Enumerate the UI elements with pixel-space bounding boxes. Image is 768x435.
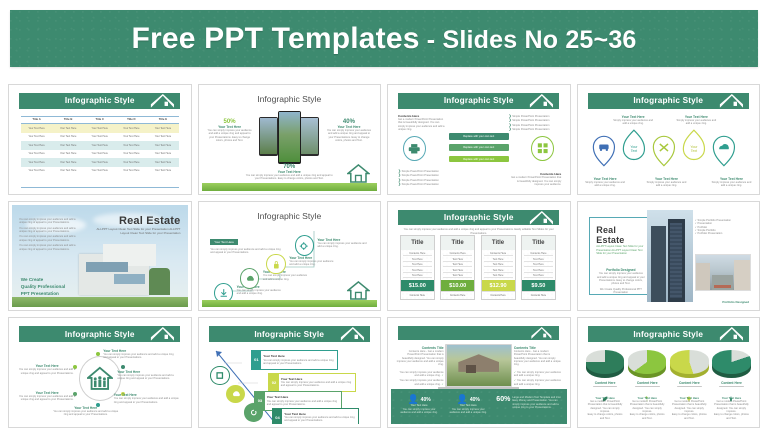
- table-cell: Your Text Here: [21, 127, 53, 130]
- item-caption-4: Your Text Here You can simply impress yo…: [51, 406, 121, 417]
- pricing-column[interactable]: Title Contents Here Text Here Text Here …: [481, 235, 516, 300]
- table-cell: Your Text Here: [116, 135, 148, 138]
- item-caption-2: Your Text Here You can simply impress yo…: [117, 370, 180, 381]
- slide-8-subtitle: ALLPPT Layout Clean Text Slide for your …: [596, 245, 645, 255]
- pricing-sub: Contents Here: [443, 252, 472, 256]
- item-body: You can simply impress your audience and…: [117, 374, 180, 381]
- table-cell: Your Text Here: [84, 127, 116, 130]
- table-header-row: Title A Title B Title C Title D Title E: [21, 116, 179, 124]
- pie-caption-3: Content Here Your Text Here Get a modern…: [670, 381, 709, 420]
- right-body: Contents Here - Get a modern PowerPoint …: [514, 350, 561, 367]
- pricing-button[interactable]: Contents Here: [522, 291, 555, 299]
- table-cell: Your Text Here: [147, 161, 179, 164]
- house-roof-icon: [716, 94, 746, 108]
- table-header-cell: Title A: [21, 118, 53, 121]
- pin-shape-cloud: [709, 134, 739, 167]
- slide-1-table: Title A Title B Title C Title D Title E …: [21, 116, 179, 184]
- svg-text:Your: Your: [630, 145, 638, 149]
- left-body: Contents Here - Get a modern PowerPoint …: [396, 350, 443, 367]
- stat-value: 60%: [496, 396, 510, 409]
- house-outline-icon: [347, 281, 370, 299]
- stat-value: 40%: [421, 397, 431, 403]
- slide-3-right-bullets: ❯ Simple PowerPoint Presentation ❯ Simpl…: [509, 114, 562, 132]
- pricing-feature: Text Here: [524, 274, 553, 278]
- claim-line: PPT Presentation: [21, 290, 65, 297]
- pin-shape-text-1: YourText: [619, 129, 649, 162]
- item-caption-5: Your Text Here You can simply impress yo…: [17, 391, 77, 402]
- pricing-value: $15.00: [401, 280, 434, 291]
- photo-caption: Portfolio Designed: [722, 300, 749, 304]
- cube-icon: [210, 366, 229, 384]
- stat-block-2: 👤 40% Your Text Here You can simply impr…: [447, 395, 489, 414]
- slide-5-bullets: You can simply impress your audience and…: [19, 218, 82, 251]
- table-cell: Your Text Here: [116, 144, 148, 147]
- pie-surface: [670, 350, 709, 374]
- bullet-item: You can simply impress your audience and…: [19, 244, 82, 251]
- bulb-icon: [686, 389, 692, 395]
- claim-line: We Create: [21, 276, 65, 283]
- table-row: Your Text Here Your Text Here Your Text …: [21, 167, 179, 175]
- item-body: You can simply impress your audience and…: [51, 410, 121, 417]
- house-roof-icon: [526, 211, 556, 225]
- table-cell: Your Text Here: [84, 144, 116, 147]
- pie-body: Get a modern PowerPoint Presentation tha…: [586, 400, 625, 413]
- table-header-cell: Title D: [116, 118, 148, 121]
- smartphone-mockup-group: [259, 111, 319, 164]
- pricing-feature: Text Here: [443, 269, 472, 273]
- step-body: You can simply impress your audience and…: [281, 381, 353, 388]
- slide-9-title: Infographic Style: [65, 330, 135, 339]
- slide-4-header: Infographic Style: [588, 93, 749, 108]
- check-icon: ❯: [398, 182, 401, 186]
- slide-3-title: Infographic Style: [444, 96, 514, 105]
- slide-thumbnail-8[interactable]: Real Estate ALLPPT Layout Clean Text Sli…: [577, 201, 761, 312]
- pie-note: Easy to change colors, photos and Text.: [586, 413, 625, 420]
- pricing-value: $10.00: [441, 280, 474, 291]
- street-photo: [695, 254, 751, 291]
- step-number: 02: [269, 374, 279, 392]
- pie-chart-3: [670, 350, 709, 381]
- step-caption-3: Your Text Here You can simply impress yo…: [289, 256, 338, 267]
- slide-5-title: Real Estate: [96, 215, 180, 227]
- table-row: Your Text Here Your Text Here Your Text …: [21, 124, 179, 132]
- slide-2-stat-right: 40% Your Text Here You can simply impres…: [326, 119, 372, 142]
- table-cell: Your Text Here: [147, 127, 179, 130]
- pie-body: Get a modern PowerPoint Presentation tha…: [628, 400, 667, 413]
- svg-text:Text: Text: [631, 149, 637, 153]
- gear-icon: [295, 235, 314, 256]
- pricing-features: Contents Here Text Here Text Here Text H…: [401, 250, 434, 280]
- process-bar: Replace with your own text: [449, 133, 509, 140]
- table-row-spacer: [21, 175, 179, 183]
- pin-body: Simply impress your audience and add a u…: [675, 119, 717, 126]
- check-icon: ✓: [441, 383, 443, 386]
- portfolio-body: You can simply impress your audience and…: [596, 272, 645, 285]
- slide-2-stat-bottom: 70% Your Text Here You can simply impres…: [244, 164, 335, 181]
- check-item: You can simply impress your audience and…: [396, 379, 443, 386]
- slide-1-title: Infographic Style: [65, 96, 135, 105]
- step-number: 04: [273, 409, 283, 424]
- table-bottom-rule: [21, 187, 179, 188]
- pie-note: Easy to change colors, photos and Text.: [712, 413, 751, 420]
- table-row: Your Text Here Your Text Here Your Text …: [21, 150, 179, 158]
- pricing-feature: Text Here: [484, 269, 513, 273]
- house-roof-icon: [526, 94, 556, 108]
- smartphone-icon: [278, 111, 301, 164]
- pricing-feature: Text Here: [443, 274, 472, 278]
- slide-3-left-bullets: ❯ Simple PowerPoint Presentation ❯ Simpl…: [398, 169, 451, 187]
- pricing-feature: Text Here: [403, 258, 432, 262]
- table-header-cell: Title E: [147, 118, 179, 121]
- skyscraper-photo: [647, 210, 693, 302]
- banner-title-main: Free PPT Templates: [131, 22, 419, 55]
- pricing-feature: Text Here: [524, 263, 553, 267]
- pricing-feature: Text Here: [484, 258, 513, 262]
- pricing-column[interactable]: Title Contents Here Text Here Text Here …: [440, 235, 475, 300]
- check-icon: ❯: [398, 173, 401, 177]
- check-icon: ❯: [398, 169, 401, 173]
- pie-caption-2: Content Here Your Text Here Get a modern…: [628, 381, 667, 420]
- pin-caption-bottom-3: Your Text Here Simply impress your audie…: [710, 177, 752, 188]
- slide-thumbnail-12[interactable]: Infographic Style Content Here Your Text…: [577, 317, 761, 428]
- bullet-item: You can simply impress your audience and…: [19, 227, 82, 234]
- check-icon: ✓: [441, 374, 443, 377]
- pricing-feature: Text Here: [403, 274, 432, 278]
- pie-caption-4: Content Here Your Text Here Get a modern…: [712, 381, 751, 420]
- item-caption-1: Your Text Here You can simply impress yo…: [103, 349, 177, 360]
- bullet-item: ❯ Simple PowerPoint Presentation: [398, 182, 451, 186]
- svg-text:Your: Your: [690, 145, 698, 149]
- grass-strip: [202, 183, 378, 190]
- table-row: Your Text Here Your Text Here Your Text …: [21, 141, 179, 149]
- pie-label: Content Here: [712, 381, 751, 385]
- person-icon: 👤: [457, 395, 468, 404]
- slide-thumbnail-9[interactable]: Infographic Style: [8, 317, 192, 428]
- pricing-title: Title: [522, 236, 555, 250]
- table-cell: Your Text Here: [116, 161, 148, 164]
- step-body: You can simply impress your audience and…: [289, 260, 338, 267]
- pie-body: Get a modern PowerPoint Presentation tha…: [670, 400, 709, 413]
- bottle-icon: [728, 389, 734, 395]
- slide-8-title: Real Estate: [596, 225, 645, 245]
- slide-thumbnail-1[interactable]: Infographic Style Title A Title B Title …: [8, 84, 192, 195]
- house-outline-icon: [347, 164, 370, 182]
- house-roof-icon: [716, 327, 746, 341]
- process-bar: Replace with your own text: [449, 144, 509, 151]
- slide-12-title: Infographic Style: [633, 330, 703, 339]
- slide-8-portfolio-block: Portfolio Designed You can simply impres…: [596, 268, 645, 294]
- right-body: Get a modern PowerPoint Presentation tha…: [509, 176, 562, 186]
- process-bar-label: Replace with your own text: [463, 146, 494, 149]
- pin-body: Simply impress your audience and add a u…: [612, 119, 654, 126]
- pie-surface: [628, 350, 667, 374]
- table-cell: Your Text Here: [116, 127, 148, 130]
- table-cell: Your Text Here: [21, 152, 53, 155]
- stats-band: 👤 40% Your Text Here You can simply impr…: [391, 389, 567, 424]
- pin-caption-top-2: Your Text Here Simply impress your audie…: [675, 115, 717, 126]
- grid-icon: [531, 136, 554, 161]
- pie-note: Easy to change colors, photos and Text.: [628, 413, 667, 420]
- slide-thumbnail-5[interactable]: Real Estate ALLPPT Layout Clean Text Sli…: [8, 201, 192, 312]
- table-cell: Your Text Here: [84, 152, 116, 155]
- table-cell: Your Text Here: [52, 135, 84, 138]
- slide-12-header: Infographic Style: [588, 326, 749, 341]
- pricing-feature: Text Here: [443, 258, 472, 262]
- pie-body: Get a modern PowerPoint Presentation tha…: [712, 400, 751, 413]
- item-body: You can simply impress your audience and…: [114, 397, 181, 404]
- item-caption-6: Your Text Here You can simply impress yo…: [17, 364, 77, 375]
- table-cell: Your Text Here: [116, 152, 148, 155]
- timeline-step-1: 01 Your Text Here You can simply impress…: [251, 350, 339, 370]
- pie-label: Content Here: [670, 381, 709, 385]
- slide-2-title: Infographic Style: [202, 94, 378, 104]
- slide-1-header: Infographic Style: [19, 93, 180, 108]
- pie-chart-4: [712, 350, 751, 381]
- table-cell: Your Text Here: [21, 169, 53, 172]
- stat-block-1: 👤 40% Your Text Here You can simply impr…: [398, 395, 440, 414]
- check-item: You can simply impress your audience and…: [396, 371, 443, 378]
- pricing-button[interactable]: Contents Here: [401, 291, 434, 299]
- process-bar-label: Replace with your own text: [463, 158, 494, 161]
- bullet-item: You can simply impress your audience and…: [19, 218, 82, 225]
- pricing-title: Title: [441, 236, 474, 250]
- slide-thumbnail-10[interactable]: Infographic Style: [198, 317, 382, 428]
- smartphone-icon: [259, 117, 278, 156]
- pin-shape-tools: [649, 134, 679, 167]
- stat-body: You can simply impress your audience and…: [398, 408, 440, 415]
- item-body: You can simply impress your audience and…: [103, 353, 177, 360]
- table-cell: Your Text Here: [52, 144, 84, 147]
- table-row: Your Text Here Your Text Here Your Text …: [21, 133, 179, 141]
- pricing-sub: Contents Here: [484, 252, 513, 256]
- slide-3-header: Infographic Style: [398, 93, 559, 108]
- step-body: You can simply impress your audience and…: [267, 400, 339, 407]
- pricing-feature: Text Here: [443, 263, 472, 267]
- table-cell: Your Text Here: [147, 135, 179, 138]
- pricing-button[interactable]: Contents Here: [482, 291, 515, 299]
- banner-title-separator: -: [420, 26, 443, 54]
- claim-line: Quality Professional: [21, 283, 65, 290]
- slide-5-claim: We Create Quality Professional PPT Prese…: [21, 276, 65, 297]
- pricing-title: Title: [401, 236, 434, 250]
- pie-label: Content Here: [586, 381, 625, 385]
- person-icon: 👤: [407, 395, 418, 404]
- stat-body: You can simply impress your audience and…: [207, 129, 253, 142]
- table-cell: Your Text Here: [21, 161, 53, 164]
- pin-body: Simply impress your audience and add a u…: [645, 181, 687, 188]
- bullet-item: ❯ Simple PowerPoint Presentation: [509, 127, 562, 131]
- slide-8-title-block: Real Estate ALLPPT Layout Clean Text Sli…: [596, 225, 645, 255]
- check-icon: ✓: [695, 232, 697, 235]
- pie-chart-1: [586, 350, 625, 381]
- slide-thumbnail-2[interactable]: Infographic Style 50% Your Text Here You…: [198, 84, 382, 195]
- table-cell: Your Text Here: [147, 152, 179, 155]
- slide-7-header: Infographic Style: [398, 210, 559, 225]
- table-cell: Your Text Here: [52, 152, 84, 155]
- pricing-column[interactable]: Title Contents Here Text Here Text Here …: [400, 235, 435, 300]
- table-row: Your Text Here Your Text Here Your Text …: [21, 158, 179, 166]
- pricing-features: Contents Here Text Here Text Here Text H…: [441, 250, 474, 280]
- check-icon: ❯: [398, 178, 401, 182]
- pin-shape-car: [589, 134, 619, 167]
- leaf-icon: [602, 389, 608, 395]
- timeline-step-2: 02 Your Text Here You can simply impress…: [268, 373, 356, 393]
- pie-caption-1: Content Here Your Text Here Get a modern…: [586, 381, 625, 420]
- pricing-feature: Text Here: [403, 263, 432, 267]
- pricing-sub: Contents Here: [524, 252, 553, 256]
- slide-3-left-text: Contents Here Get a modern PowerPoint Pr…: [398, 114, 447, 132]
- stat-body: Large and Modern Text Template and Icon …: [512, 396, 563, 409]
- table-cell: Your Text Here: [52, 127, 84, 130]
- pie-note: Easy to change colors, photos and Text.: [670, 413, 709, 420]
- pie-chart-2: [628, 350, 667, 381]
- banner-title-sub: Slides No 25~36: [442, 26, 636, 54]
- slide-thumbnail-7[interactable]: Infographic Style You can simply impress…: [387, 201, 571, 312]
- slide-11-header: [398, 326, 559, 339]
- pricing-feature: Text Here: [484, 263, 513, 267]
- pricing-sub: Contents Here: [403, 252, 432, 256]
- house-roof-icon: [147, 94, 177, 108]
- step-body: You can simply impress your audience and…: [284, 416, 356, 423]
- slide-thumbnail-11[interactable]: Contents Title Contents Here - Get a mod…: [387, 317, 571, 428]
- pricing-feature: Text Here: [484, 274, 513, 278]
- pricing-title: Title: [482, 236, 515, 250]
- pin-shape-text-2: YourText: [679, 129, 709, 162]
- stat-body: You can simply impress your audience and…: [447, 408, 489, 415]
- slide-5-title-block: Real Estate ALLPPT Layout Clean Text Sli…: [96, 215, 180, 235]
- pin-caption-top-1: Your Text Here Simply impress your audie…: [612, 115, 654, 126]
- table-cell: Your Text Here: [21, 144, 53, 147]
- bullet-item: ✓ Portfolio Presentation: [695, 232, 751, 235]
- pricing-feature: Text Here: [524, 258, 553, 262]
- left-body: Get a modern PowerPoint Presentation tha…: [398, 118, 447, 131]
- slide-9-header: Infographic Style: [19, 326, 180, 341]
- pricing-value: $12.90: [482, 280, 515, 291]
- process-bar-label: Replace with your own text: [463, 135, 494, 138]
- table-cell: Your Text Here: [84, 135, 116, 138]
- smartphone-icon: [300, 117, 319, 156]
- stat-body: You can simply impress your audience and…: [244, 174, 335, 181]
- pin-caption-bottom-1: Your Text Here Simply impress your audie…: [584, 177, 626, 188]
- table-cell: Your Text Here: [84, 169, 116, 172]
- slide-8-bullets: ✓ Simple Portfolio Presentation ✓ Presen…: [695, 219, 751, 236]
- table-cell: Your Text Here: [116, 169, 148, 172]
- pricing-features: Contents Here Text Here Text Here Text H…: [482, 250, 515, 280]
- pricing-column[interactable]: Title Contents Here Text Here Text Here …: [521, 235, 556, 300]
- step-number: 03: [255, 392, 265, 410]
- bullet-item: You can simply impress your audience and…: [19, 235, 82, 242]
- slide-7-title: Infographic Style: [444, 213, 514, 222]
- check-item: ✓ You can simply impress your audience a…: [514, 371, 561, 378]
- item-body: You can simply impress your audience and…: [17, 395, 77, 402]
- stat-block-3: 60% Large and Modern Text Template and I…: [496, 396, 563, 409]
- process-bar: Replace with your own text: [449, 156, 509, 163]
- stat-value: 40%: [470, 397, 480, 403]
- slide-thumbnail-3[interactable]: Infographic Style Contents Here Get a mo…: [387, 84, 571, 195]
- pie-surface: [712, 350, 751, 374]
- svg-text:Text: Text: [690, 149, 696, 153]
- page-title: Free PPT Templates - Slides No 25~36: [131, 22, 636, 56]
- slide-11-left: Contents Title Contents Here - Get a mod…: [396, 346, 443, 367]
- slide-5-subtitle: ALLPPT Layout Clean Text Slide for your …: [96, 227, 180, 235]
- laptop-mockup: [445, 344, 512, 387]
- portfolio-note: We Create Quality Professional PPT Prese…: [596, 288, 645, 295]
- slide-2-stat-left: 50% Your Text Here You can simply impres…: [207, 119, 253, 142]
- pricing-button[interactable]: Contents Here: [441, 291, 474, 299]
- pin-body: Simply impress your audience and add a u…: [710, 181, 752, 188]
- pie-label: Content Here: [628, 381, 667, 385]
- timeline-step-4: 04 Your Text Here You can simply impress…: [272, 408, 360, 424]
- pie-surface: [586, 350, 625, 374]
- slide-11-right: Contents Title Contents Here - Get a mod…: [514, 346, 561, 367]
- slide-thumbnail-grid: Infographic Style Title A Title B Title …: [8, 84, 760, 428]
- table-cell: Your Text Here: [147, 144, 179, 147]
- pricing-feature: Text Here: [403, 269, 432, 273]
- pin-caption-bottom-2: Your Text Here Simply impress your audie…: [645, 177, 687, 188]
- slide-7-intro: You can simply impress your audience and…: [400, 228, 558, 235]
- step-caption-4: Your Text Here You can simply impress yo…: [317, 238, 370, 249]
- table-cell: Your Text Here: [52, 161, 84, 164]
- house-roof-icon: [526, 327, 556, 339]
- laptop-screen-photo: [447, 345, 511, 385]
- pin-body: Simply impress your audience and add a u…: [584, 181, 626, 188]
- step-body: You can simply impress your audience and…: [263, 359, 335, 366]
- pricing-features: Contents Here Text Here Text Here Text H…: [522, 250, 555, 280]
- house-roof-icon: [147, 327, 177, 341]
- slide-11-checks-left: You can simply impress your audience and…: [396, 371, 443, 386]
- step-number: 01: [252, 351, 262, 369]
- slide-11-checks-right: ✓ You can simply impress your audience a…: [514, 371, 561, 386]
- table-header-cell: Title C: [84, 118, 116, 121]
- slide-3-right-text: Contents Here Get a modern PowerPoint Pr…: [509, 172, 562, 186]
- grass-strip: [202, 300, 378, 307]
- item-body: You can simply impress your audience and…: [17, 368, 77, 375]
- plant-icon: [644, 389, 650, 395]
- slide-thumbnail-6[interactable]: Infographic Style Your Text Here You can…: [198, 201, 382, 312]
- table-header-cell: Title B: [52, 118, 84, 121]
- lock-icon: [266, 254, 285, 275]
- pricing-feature: Text Here: [524, 269, 553, 273]
- table-cell: Your Text Here: [84, 161, 116, 164]
- printer-icon: [403, 136, 426, 161]
- step-body: You can simply impress your audience and…: [317, 242, 370, 249]
- pricing-value: $9.50: [522, 280, 555, 291]
- item-caption-3: Your Text Here You can simply impress yo…: [114, 393, 181, 404]
- stat-body: You can simply impress your audience and…: [326, 129, 372, 142]
- step-body: You can simply impress your audience and…: [263, 274, 312, 281]
- table-cell: Your Text Here: [147, 169, 179, 172]
- slide-4-title: Infographic Style: [633, 96, 703, 105]
- table-cell: Your Text Here: [21, 135, 53, 138]
- slide-thumbnail-4[interactable]: Infographic Style Your Text Here Simply …: [577, 84, 761, 195]
- table-cell: Your Text Here: [52, 169, 84, 172]
- check-item: ✓ You can simply impress your audience a…: [514, 379, 561, 386]
- family-house-icon: [87, 365, 113, 393]
- step-body: You can simply impress your audience and…: [237, 289, 286, 296]
- page-banner: Free PPT Templates - Slides No 25~36: [10, 10, 758, 67]
